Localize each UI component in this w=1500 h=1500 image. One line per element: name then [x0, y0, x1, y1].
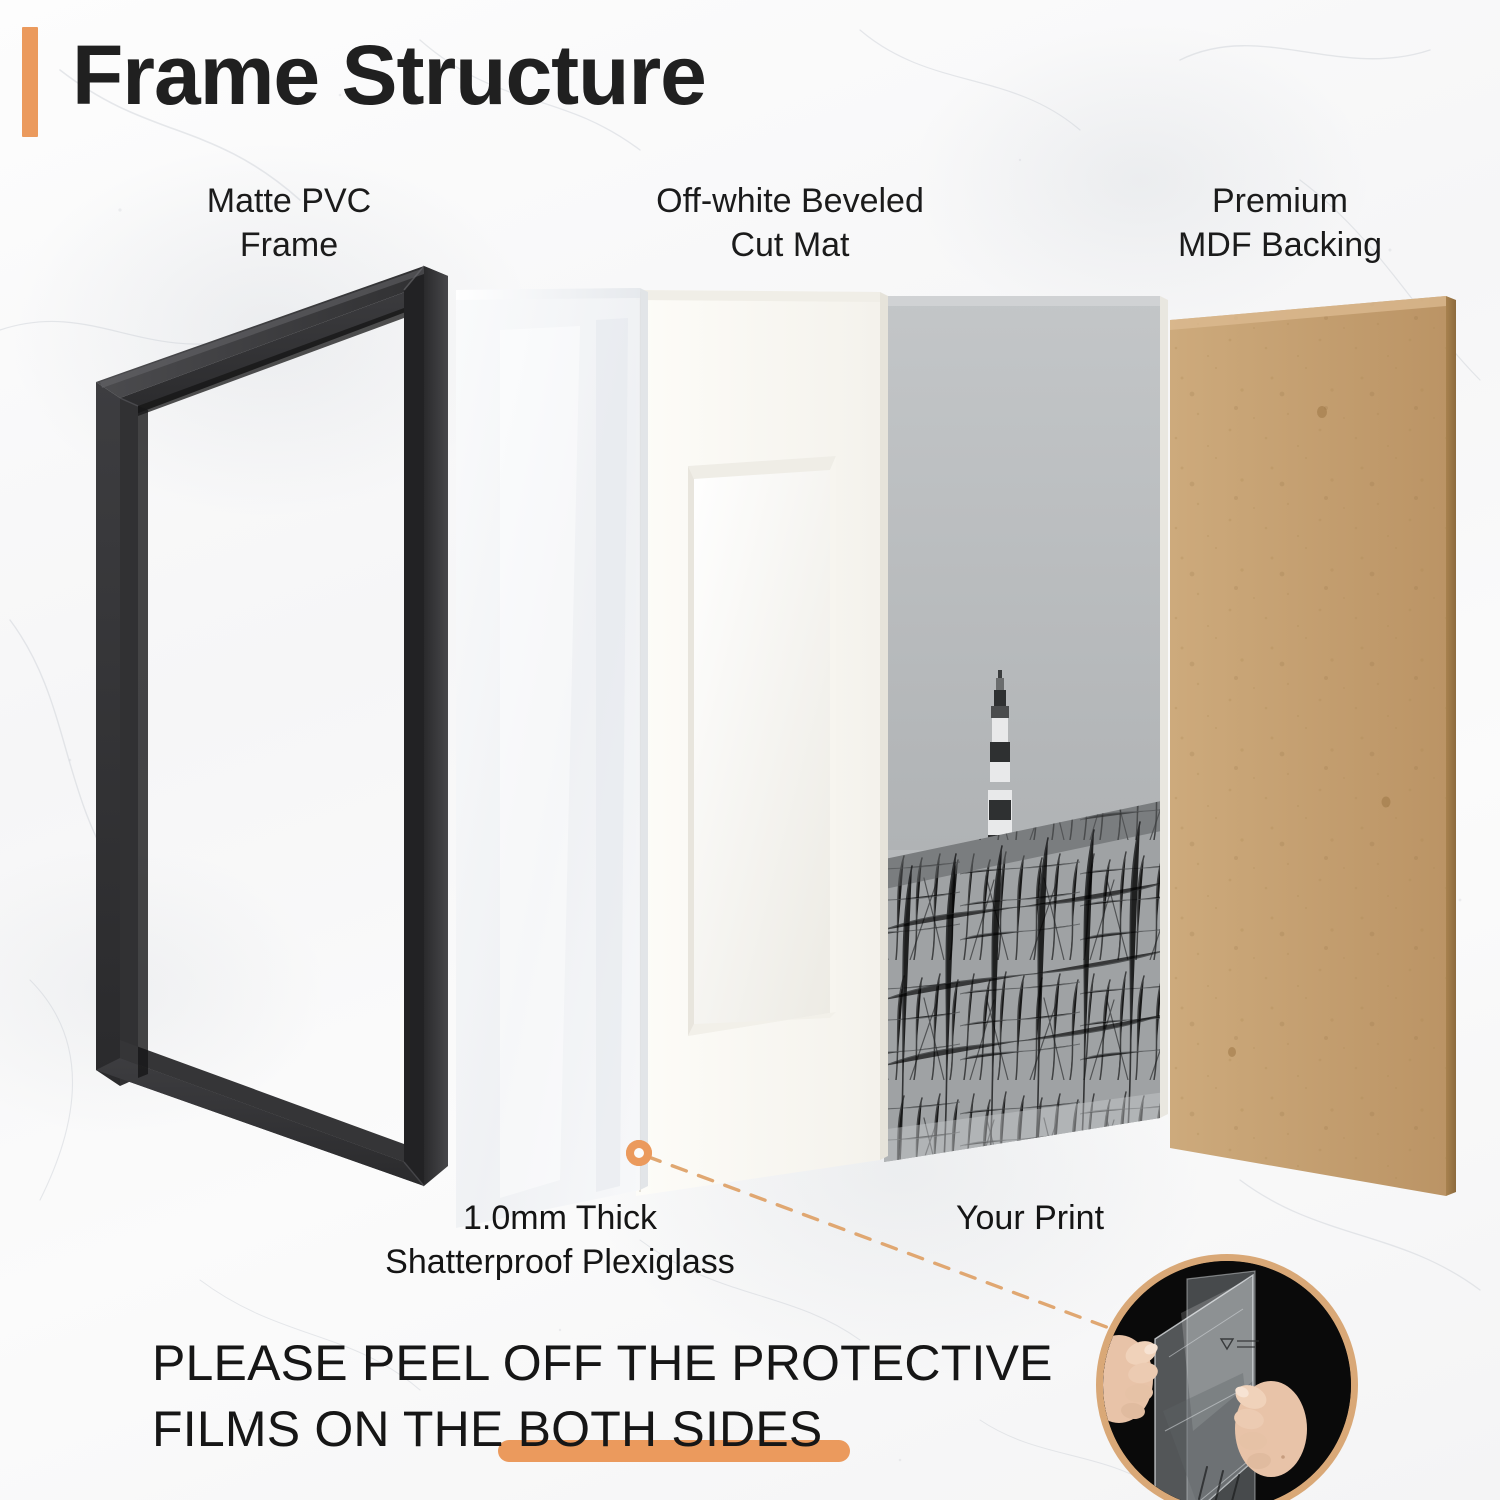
label-mat-line1: Off-white Beveled [520, 180, 1060, 224]
label-mdf-backing: Premium MDF Backing [1080, 180, 1480, 267]
label-mdf-line1: Premium [1080, 180, 1480, 224]
peel-instruction-highlighted: BOTH SIDES [518, 1401, 823, 1457]
peel-instruction-line1: PLEASE PEEL OFF THE PROTECTIVE [152, 1330, 1072, 1396]
layer-mdf-backing [1170, 296, 1456, 1196]
infographic-canvas: Frame Structure [0, 0, 1500, 1500]
layer-beveled-cut-mat [636, 290, 888, 1196]
label-mdf-line2: MDF Backing [1080, 224, 1480, 268]
peel-instruction-line2: FILMS ON THE BOTH SIDES [152, 1396, 1072, 1462]
label-plexi-line2: Shatterproof Plexiglass [250, 1240, 870, 1284]
peel-instruction-prefix: FILMS ON THE [152, 1401, 518, 1457]
label-beveled-cut-mat: Off-white Beveled Cut Mat [520, 180, 1060, 267]
label-matte-pvc-frame: Matte PVC Frame [104, 180, 474, 267]
label-frame-line1: Matte PVC [104, 180, 474, 224]
layer-plexiglass [456, 288, 648, 1228]
leader-line-marker [626, 1140, 652, 1166]
label-your-print: Your Print [865, 1196, 1195, 1240]
label-frame-line2: Frame [104, 224, 474, 268]
label-plexiglass: 1.0mm Thick Shatterproof Plexiglass [250, 1196, 870, 1284]
layer-matte-pvc-frame [96, 266, 448, 1186]
label-mat-line2: Cut Mat [520, 224, 1060, 268]
peel-instruction: PLEASE PEEL OFF THE PROTECTIVE FILMS ON … [152, 1330, 1072, 1462]
layer-your-print [880, 290, 1168, 1170]
label-plexi-line1: 1.0mm Thick [250, 1196, 870, 1240]
peel-film-inset-photo [1096, 1254, 1358, 1500]
